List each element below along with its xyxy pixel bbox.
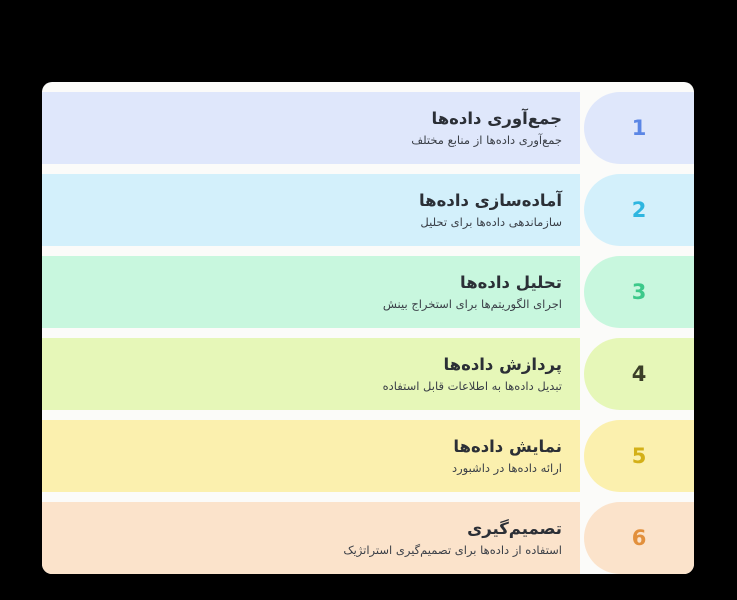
step-number-badge: 5: [584, 420, 694, 492]
step-row[interactable]: 6تصمیم‌گیریاستفاده از داده‌ها برای تصمیم…: [42, 502, 694, 574]
step-description: تبدیل داده‌ها به اطلاعات قابل استفاده: [56, 379, 562, 394]
step-title: آماده‌سازی داده‌ها: [56, 190, 562, 211]
step-description: ارائه داده‌ها در داشبورد: [56, 461, 562, 476]
step-description: سازماندهی داده‌ها برای تحلیل: [56, 215, 562, 230]
step-row[interactable]: 2آماده‌سازی داده‌هاسازماندهی داده‌ها برا…: [42, 174, 694, 246]
step-title: تحلیل داده‌ها: [56, 272, 562, 293]
step-row[interactable]: 3تحلیل داده‌هااجرای الگوریتم‌ها برای است…: [42, 256, 694, 328]
step-number-badge: 4: [584, 338, 694, 410]
screen-canvas: 1جمع‌آوری داده‌هاجمع‌آوری داده‌ها از منا…: [0, 0, 737, 600]
step-description: استفاده از داده‌ها برای تصمیم‌گیری استرا…: [56, 543, 562, 558]
step-description: اجرای الگوریتم‌ها برای استخراج بینش: [56, 297, 562, 312]
content-sheet: 1جمع‌آوری داده‌هاجمع‌آوری داده‌ها از منا…: [42, 82, 694, 574]
step-content-panel: آماده‌سازی داده‌هاسازماندهی داده‌ها برای…: [42, 174, 580, 246]
step-title: پردازش داده‌ها: [56, 354, 562, 375]
step-content-panel: تصمیم‌گیریاستفاده از داده‌ها برای تصمیم‌…: [42, 502, 580, 574]
step-content-panel: جمع‌آوری داده‌هاجمع‌آوری داده‌ها از مناب…: [42, 92, 580, 164]
step-content-panel: نمایش داده‌هاارائه داده‌ها در داشبورد: [42, 420, 580, 492]
step-content-panel: پردازش داده‌هاتبدیل داده‌ها به اطلاعات ق…: [42, 338, 580, 410]
step-number-badge: 3: [584, 256, 694, 328]
step-number-badge: 6: [584, 502, 694, 574]
steps-list: 1جمع‌آوری داده‌هاجمع‌آوری داده‌ها از منا…: [42, 82, 694, 574]
step-number-badge: 2: [584, 174, 694, 246]
step-title: تصمیم‌گیری: [56, 518, 562, 539]
step-description: جمع‌آوری داده‌ها از منابع مختلف: [56, 133, 562, 148]
step-row[interactable]: 1جمع‌آوری داده‌هاجمع‌آوری داده‌ها از منا…: [42, 92, 694, 164]
step-row[interactable]: 5نمایش داده‌هاارائه داده‌ها در داشبورد: [42, 420, 694, 492]
step-content-panel: تحلیل داده‌هااجرای الگوریتم‌ها برای استخ…: [42, 256, 580, 328]
step-row[interactable]: 4پردازش داده‌هاتبدیل داده‌ها به اطلاعات …: [42, 338, 694, 410]
step-title: نمایش داده‌ها: [56, 436, 562, 457]
step-title: جمع‌آوری داده‌ها: [56, 108, 562, 129]
step-number-badge: 1: [584, 92, 694, 164]
